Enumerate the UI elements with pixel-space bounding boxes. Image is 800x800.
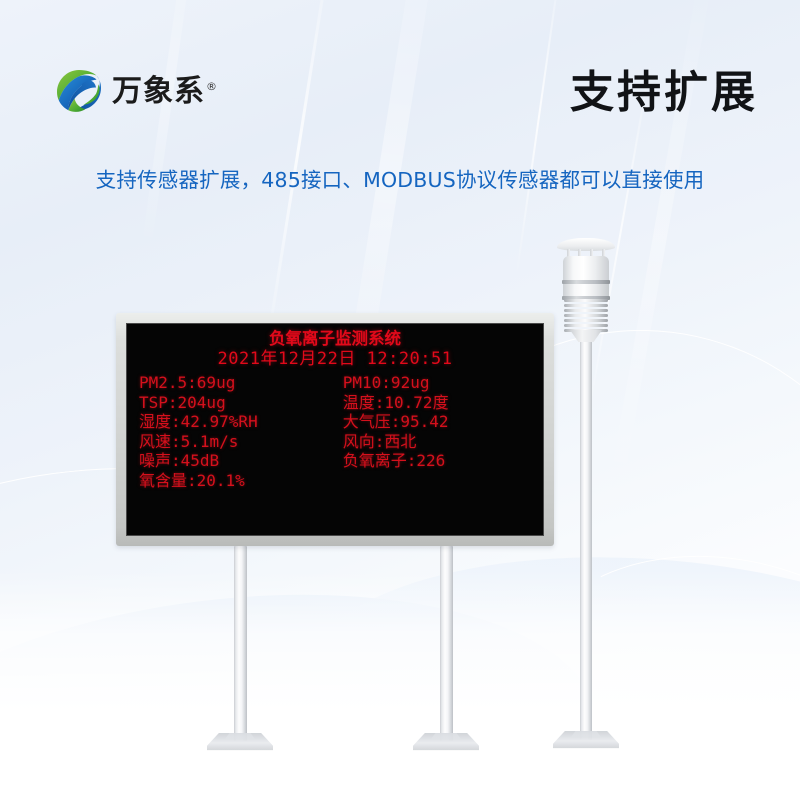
led-reading-oxygen: 氧含量:20.1% bbox=[139, 471, 343, 491]
led-reading-row: PM2.5:69ug PM10:92ug bbox=[139, 373, 535, 393]
sensor-body-upper bbox=[563, 256, 609, 282]
sensor-band bbox=[562, 280, 610, 284]
registered-mark-icon: ® bbox=[206, 80, 218, 93]
led-reading-negative-ions: 负氧离子:226 bbox=[343, 451, 535, 471]
base-plate-icon bbox=[413, 733, 479, 755]
led-reading-noise: 噪声:45dB bbox=[139, 451, 343, 471]
led-readings-grid: PM2.5:69ug PM10:92ug TSP:204ug 温度:10.72度… bbox=[127, 373, 543, 490]
led-datetime: 2021年12月22日 12:20:51 bbox=[127, 349, 543, 370]
page-title: 支持扩展 bbox=[570, 70, 758, 116]
support-pole-icon bbox=[440, 546, 453, 741]
led-reading-row: 湿度:42.97%RH 大气压:95.42 bbox=[139, 412, 535, 432]
led-reading-pressure: 大气压:95.42 bbox=[343, 412, 535, 432]
led-reading-pm25: PM2.5:69ug bbox=[139, 373, 343, 393]
led-reading-row: 噪声:45dB 负氧离子:226 bbox=[139, 451, 535, 471]
led-reading-row: TSP:204ug 温度:10.72度 bbox=[139, 393, 535, 413]
led-billboard: 负氧离子监测系统 2021年12月22日 12:20:51 PM2.5:69ug… bbox=[116, 313, 554, 546]
led-reading-row: 风速:5.1m/s 风向:西北 bbox=[139, 432, 535, 452]
horizon-curve bbox=[288, 529, 800, 800]
poster-header: 万象系® 支持扩展 支持传感器扩展，485接口、MODBUS协议传感器都可以直接… bbox=[0, 0, 800, 220]
page-subtitle: 支持传感器扩展，485接口、MODBUS协议传感器都可以直接使用 bbox=[0, 163, 800, 193]
led-reading-pm10: PM10:92ug bbox=[343, 373, 535, 393]
radiation-shield-icon bbox=[564, 299, 608, 334]
led-reading-wind-speed: 风速:5.1m/s bbox=[139, 432, 343, 452]
support-pole-icon bbox=[234, 546, 247, 741]
led-reading-temperature: 温度:10.72度 bbox=[343, 393, 535, 413]
led-reading-humidity: 湿度:42.97%RH bbox=[139, 412, 343, 432]
sensor-mast-icon bbox=[580, 330, 592, 740]
base-plate-icon bbox=[207, 733, 273, 755]
arc-line bbox=[490, 513, 800, 800]
led-reading-tsp: TSP:204ug bbox=[139, 393, 343, 413]
horizon-curve bbox=[0, 555, 617, 800]
led-reading-row: 氧含量:20.1% bbox=[139, 471, 535, 491]
weather-sensor-head-icon bbox=[551, 238, 621, 338]
led-reading-empty bbox=[343, 471, 535, 491]
led-title: 负氧离子监测系统 bbox=[127, 330, 543, 348]
sensor-neck bbox=[567, 330, 605, 342]
brand-name: 万象系® bbox=[112, 77, 218, 107]
led-screen: 负氧离子监测系统 2021年12月22日 12:20:51 PM2.5:69ug… bbox=[126, 323, 544, 536]
brand-lockup: 万象系® bbox=[55, 68, 218, 116]
ground-plane bbox=[0, 570, 800, 800]
led-reading-wind-direction: 风向:西北 bbox=[343, 432, 535, 452]
base-plate-icon bbox=[553, 731, 619, 753]
globe-swirl-logo-icon bbox=[55, 68, 103, 116]
poster-stage: 万象系® 支持扩展 支持传感器扩展，485接口、MODBUS协议传感器都可以直接… bbox=[0, 0, 800, 800]
